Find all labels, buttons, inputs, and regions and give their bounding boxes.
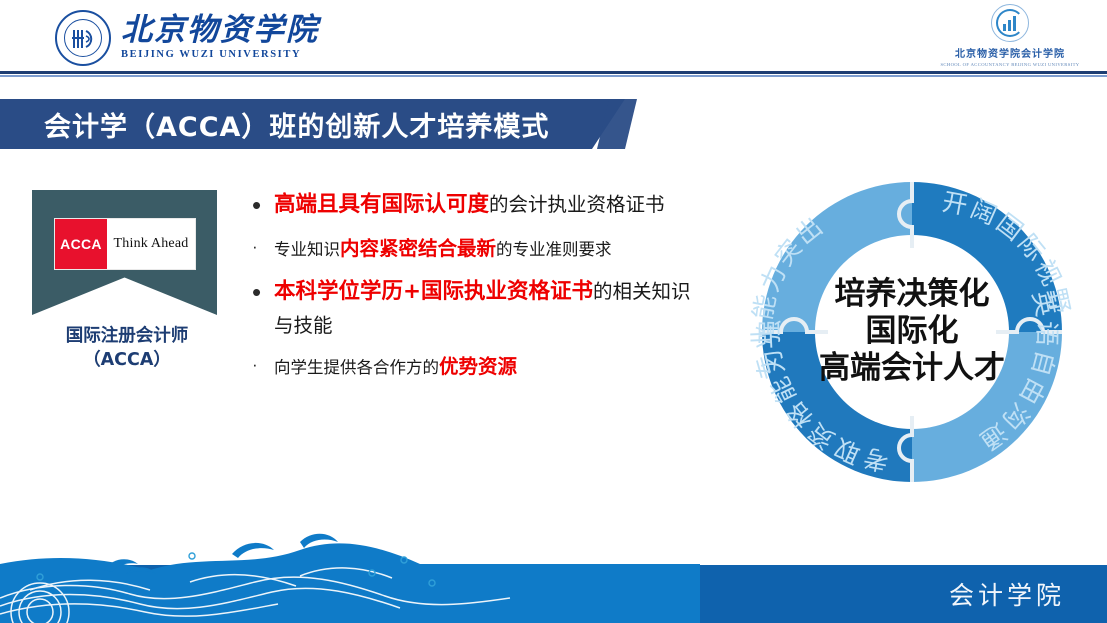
bullet-highlight: 内容紧密结合最新: [340, 237, 496, 260]
bullet-plain: 的专业准则要求: [496, 240, 612, 259]
bullet-marker: ·: [252, 233, 274, 265]
acca-wordmark: ACCA: [55, 219, 107, 269]
university-seal-icon: [55, 10, 111, 66]
bullet-item: · 向学生提供各合作方的优势资源: [252, 351, 702, 383]
bullet-marker: ·: [252, 351, 274, 383]
school-name-en: SCHOOL OF ACCOUNTANCY BEIJING WUZI UNIVE…: [940, 62, 1079, 67]
bullet-item: • 高端且具有国际认可度的会计执业资格证书: [252, 188, 702, 223]
bullet-highlight: 本科学位学历+国际执业资格证书: [274, 279, 593, 304]
bullet-item: · 专业知识内容紧密结合最新的专业准则要求: [252, 233, 702, 265]
acca-caption: 国际注册会计师 （ACCA）: [32, 325, 222, 372]
center-line-3: 高端会计人才: [787, 351, 1037, 388]
bullet-item: • 本科学位学历+国际执业资格证书的相关知识与技能: [252, 275, 702, 341]
footer-label: 会计学院: [949, 565, 1065, 623]
seal-bars-icon: [1003, 16, 1016, 31]
bullet-text: 向学生提供各合作方的优势资源: [274, 351, 702, 383]
bullet-list: • 高端且具有国际认可度的会计执业资格证书 · 专业知识内容紧密结合最新的专业准…: [252, 188, 702, 393]
bullet-plain: 专业知识: [274, 240, 340, 259]
acca-caption-line1: 国际注册会计师: [32, 325, 222, 349]
bullet-text: 专业知识内容紧密结合最新的专业准则要求: [274, 233, 702, 265]
acca-logo: ACCA Think Ahead: [54, 218, 196, 270]
ring-center-text: 培养决策化 国际化 高端会计人才: [787, 276, 1037, 388]
university-name-cn: 北京物资学院: [121, 15, 319, 46]
bullet-highlight: 高端且具有国际认可度: [274, 192, 489, 217]
acca-badge: ACCA Think Ahead 国际注册会计师 （ACCA）: [32, 190, 222, 372]
school-name-cn: 北京物资学院会计学院: [955, 45, 1065, 60]
bullet-marker: •: [252, 275, 274, 341]
school-logo-right: 北京物资学院会计学院 SCHOOL OF ACCOUNTANCY BEIJING…: [935, 4, 1085, 68]
bullet-marker: •: [252, 188, 274, 223]
header-rule-secondary: [0, 75, 1107, 77]
acca-ribbon-shape: ACCA Think Ahead: [32, 190, 217, 315]
slide-canvas: 北京物资学院 BEIJING WUZI UNIVERSITY 北京物资学院会计学…: [0, 0, 1107, 623]
bullet-highlight: 优势资源: [439, 355, 517, 378]
university-name-en: BEIJING WUZI UNIVERSITY: [121, 50, 319, 61]
center-line-1: 培养决策化: [787, 276, 1037, 313]
bullet-plain: 向学生提供各合作方的: [274, 358, 439, 377]
bullet-plain: 的会计执业资格证书: [489, 193, 665, 216]
header-rule-primary: [0, 71, 1107, 74]
center-line-2: 国际化: [787, 313, 1037, 350]
acca-caption-line2: （ACCA）: [32, 349, 222, 373]
university-logo-left: 北京物资学院 BEIJING WUZI UNIVERSITY: [55, 10, 319, 66]
school-seal-icon: [991, 4, 1029, 42]
acca-tagline: Think Ahead: [107, 219, 195, 269]
page-title: 会计学（ACCA）班的创新人才培养模式: [44, 99, 549, 149]
puzzle-ring-diagram: 专业能力突出 开阔国际视野 英语自由沟通 考取资格能力强 培养决策化 国际化 高…: [736, 138, 1088, 526]
bullet-text: 本科学位学历+国际执业资格证书的相关知识与技能: [274, 275, 702, 341]
slide-header: 北京物资学院 BEIJING WUZI UNIVERSITY 北京物资学院会计学…: [0, 0, 1107, 72]
seal-glyph-icon: [70, 27, 96, 51]
wave-decoration-icon: [0, 520, 700, 623]
bullet-text: 高端且具有国际认可度的会计执业资格证书: [274, 188, 702, 223]
